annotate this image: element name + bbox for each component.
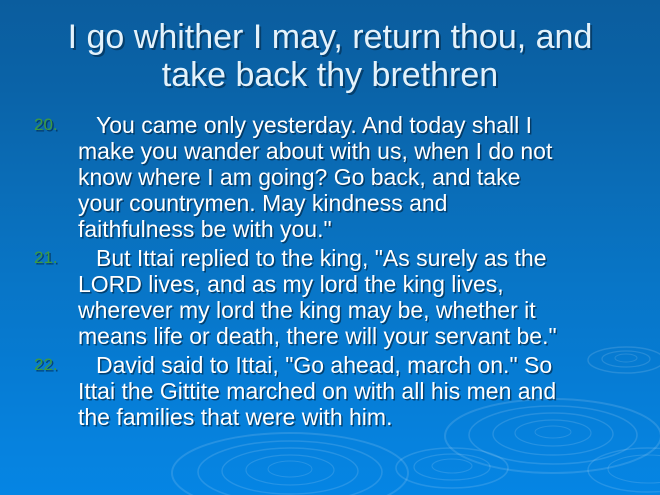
verse-item: 20. You came only yesterday. And today s… [28,112,636,242]
slide-title: I go whither I may, return thou, and tak… [18,18,642,94]
verse-text: You came only yesterday. And today shall… [78,112,636,242]
verse-line: LORD lives, and as my lord the king live… [78,271,636,297]
verse-line: the families that were with him. [78,404,636,430]
verse-number: 22. [34,355,72,375]
verse-text: But Ittai replied to the king, "As surel… [78,245,636,349]
verse-line: faithfulness be with you." [78,216,636,242]
verse-text: David said to Ittai, "Go ahead, march on… [78,352,636,430]
verse-number: 21. [34,248,72,268]
verse-number: 20. [34,115,72,135]
verse-line: know where I am going? Go back, and take [78,164,636,190]
verse-line: means life or death, there will your ser… [78,323,636,349]
verse-item: 21. But Ittai replied to the king, "As s… [28,245,636,349]
verse-list: 20. You came only yesterday. And today s… [28,112,636,433]
verse-line: wherever my lord the king may be, whethe… [78,297,636,323]
presentation-slide: I go whither I may, return thou, and tak… [0,0,660,495]
verse-line: But Ittai replied to the king, "As surel… [78,245,636,271]
verse-line: your countrymen. May kindness and [78,190,636,216]
title-line-2: take back thy brethren [18,56,642,94]
verse-item: 22. David said to Ittai, "Go ahead, marc… [28,352,636,430]
title-line-1: I go whither I may, return thou, and [18,18,642,56]
verse-line: You came only yesterday. And today shall… [78,112,636,138]
verse-line: Ittai the Gittite marched on with all hi… [78,378,636,404]
verse-line: David said to Ittai, "Go ahead, march on… [78,352,636,378]
verse-line: make you wander about with us, when I do… [78,138,636,164]
